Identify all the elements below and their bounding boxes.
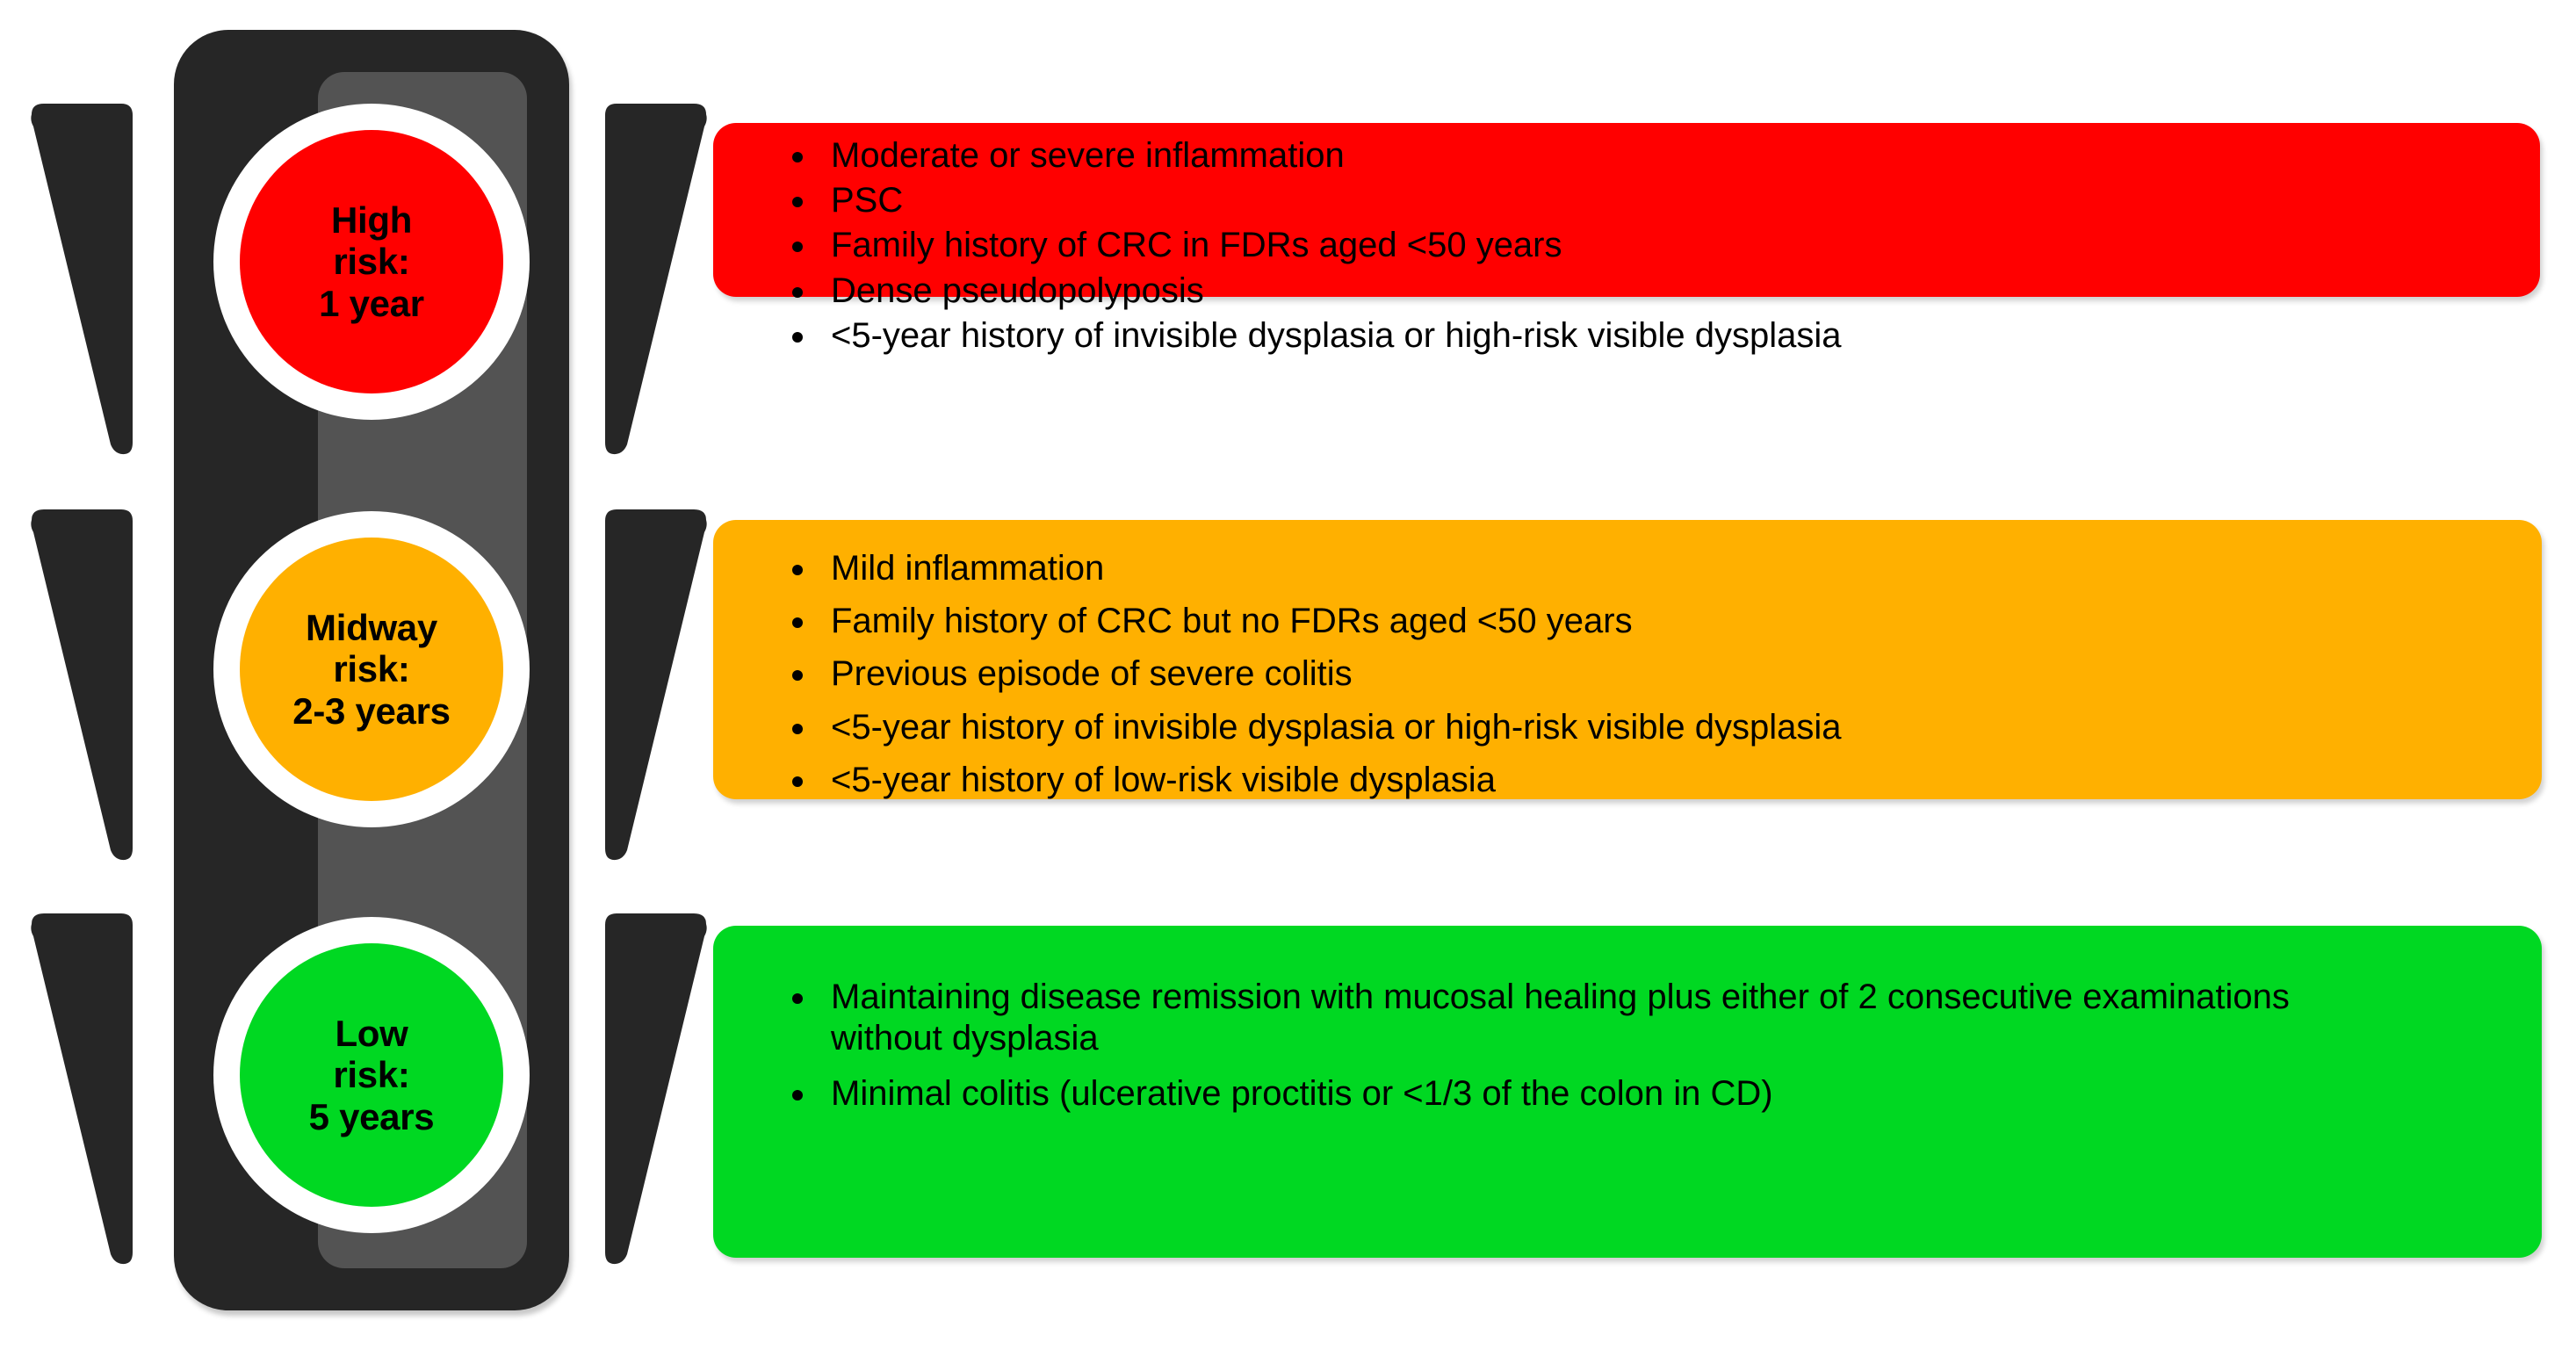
lamp-face-high-risk: High risk: 1 year — [240, 130, 503, 393]
lamp-face-midway-risk: Midway risk: 2-3 years — [240, 538, 503, 801]
visor-wedge-right-low-icon — [601, 913, 715, 1265]
lamp-high-risk[interactable]: High risk: 1 year — [213, 104, 530, 420]
criteria-box-midway-risk: Mild inflammation Family history of CRC … — [713, 520, 2542, 799]
list-item: Minimal colitis (ulcerative proctitis or… — [819, 1073, 2341, 1115]
lamp-label-midway-risk: Midway risk: 2-3 years — [287, 607, 455, 731]
list-item: Family history of CRC but no FDRs aged <… — [819, 601, 2507, 642]
visor-wedge-right-midway-icon — [601, 509, 715, 861]
visor-wedge-left-midway-icon — [23, 509, 137, 861]
lamp-label-low-risk: Low risk: 5 years — [304, 1013, 440, 1137]
list-item: Mild inflammation — [819, 548, 2507, 589]
list-item: <5-year history of invisible dysplasia o… — [819, 707, 2507, 748]
list-item: Family history of CRC in FDRs aged <50 y… — [819, 225, 2505, 266]
list-item: PSC — [819, 180, 2505, 221]
list-item: Dense pseudopolyposis — [819, 271, 2505, 312]
lamp-face-low-risk: Low risk: 5 years — [240, 943, 503, 1207]
list-item: <5-year history of low-risk visible dysp… — [819, 760, 2507, 801]
lamp-low-risk[interactable]: Low risk: 5 years — [213, 917, 530, 1233]
visor-wedge-left-low-icon — [23, 913, 137, 1265]
criteria-list-high-risk: Moderate or severe inflammation PSC Fami… — [778, 135, 2505, 357]
visor-wedge-right-high-icon — [601, 104, 715, 455]
criteria-box-high-risk: Moderate or severe inflammation PSC Fami… — [713, 123, 2540, 297]
visor-wedge-left-high-icon — [23, 104, 137, 455]
traffic-light: High risk: 1 year Midway risk: 2-3 years… — [174, 30, 569, 1310]
lamp-label-high-risk: High risk: 1 year — [314, 199, 429, 323]
list-item: Maintaining disease remission with mucos… — [819, 977, 2341, 1059]
traffic-light-figure: High risk: 1 year Midway risk: 2-3 years… — [0, 0, 2576, 1364]
lamp-midway-risk[interactable]: Midway risk: 2-3 years — [213, 511, 530, 827]
list-item: Previous episode of severe colitis — [819, 653, 2507, 695]
list-item: <5-year history of invisible dysplasia o… — [819, 315, 2505, 357]
criteria-list-low-risk: Maintaining disease remission with mucos… — [778, 977, 2507, 1115]
criteria-list-midway-risk: Mild inflammation Family history of CRC … — [778, 548, 2507, 801]
list-item: Moderate or severe inflammation — [819, 135, 2505, 177]
criteria-box-low-risk: Maintaining disease remission with mucos… — [713, 926, 2542, 1258]
